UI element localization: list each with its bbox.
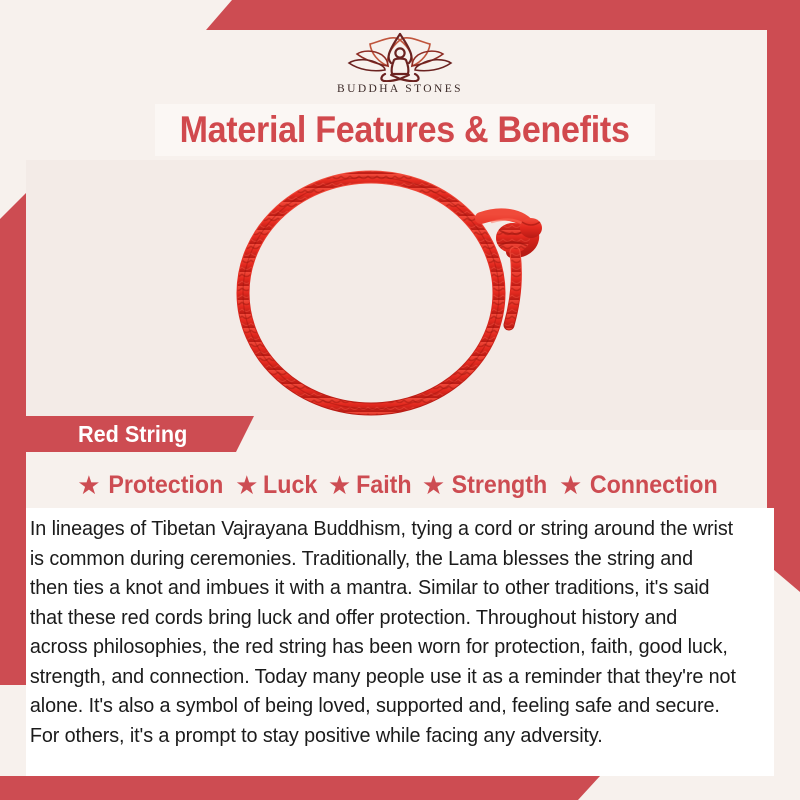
brand-wordmark: BUDDHA STONES — [337, 83, 463, 95]
lotus-meditation-figure-icon — [341, 30, 459, 82]
product-label: Red String — [31, 421, 187, 448]
feature-label: Faith — [356, 471, 412, 500]
star-icon: ★ — [559, 472, 582, 498]
feature-label: Protection — [108, 471, 223, 500]
feature-item: ★ Protection — [77, 471, 227, 500]
feature-label: Connection — [590, 471, 718, 500]
star-icon: ★ — [422, 472, 445, 498]
page-title: Material Features & Benefits — [180, 109, 630, 151]
description-block: In lineages of Tibetan Vajrayana Buddhis… — [26, 508, 774, 776]
brand-header: BUDDHA STONES — [0, 30, 800, 102]
product-photo — [26, 160, 767, 430]
product-label-banner: Red String — [26, 416, 254, 452]
features-row: ★ Protection ★ Luck ★ Faith ★ Strength ★… — [0, 462, 800, 508]
red-string-bracelet-image — [26, 160, 767, 430]
star-icon: ★ — [235, 472, 258, 498]
star-icon: ★ — [328, 472, 351, 498]
star-icon: ★ — [77, 472, 100, 498]
feature-item: ★ Luck — [235, 471, 320, 500]
feature-label: Luck — [264, 471, 318, 500]
title-banner: Material Features & Benefits — [155, 104, 655, 156]
bottom-red-band — [0, 776, 600, 800]
top-red-band — [206, 0, 800, 30]
description-text: In lineages of Tibetan Vajrayana Buddhis… — [26, 508, 748, 750]
feature-item: ★ Faith — [328, 471, 414, 500]
feature-label: Strength — [452, 471, 548, 500]
infographic-page: BUDDHA STONES Material Features & Benefi… — [0, 0, 800, 800]
feature-item: ★ Connection — [559, 471, 723, 500]
feature-item: ★ Strength — [422, 471, 551, 500]
left-red-strip — [0, 193, 26, 685]
